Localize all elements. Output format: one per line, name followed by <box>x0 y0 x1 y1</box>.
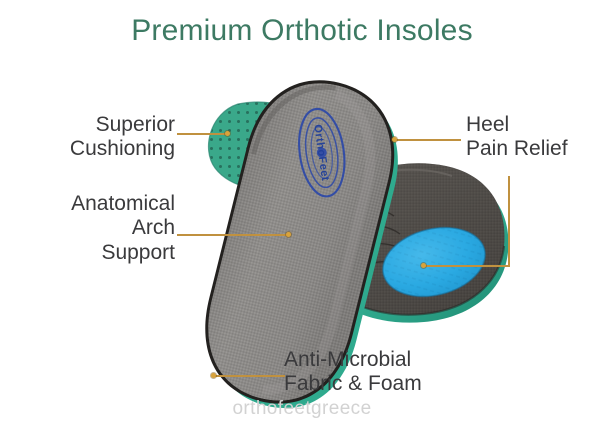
callout-label-heel-pain-relief: Heel Pain Relief <box>466 113 602 162</box>
leader-dot-heel-gel <box>421 263 426 268</box>
leader-dot-anatomical-arch-support <box>286 232 291 237</box>
watermark: orthofeetgreece <box>0 398 604 420</box>
callout-label-anti-microbial: Anti-Microbial Fabric & Foam <box>284 348 584 397</box>
leader-line-heel-gel-vertical <box>508 176 510 266</box>
leader-line-heel-gel-horizontal <box>425 265 510 267</box>
leader-line-anatomical-arch-support <box>177 234 288 236</box>
leader-line-anti-microbial <box>215 375 285 377</box>
infographic-canvas: OrthoFeet Premium Orthotic Insoles Super… <box>0 0 604 427</box>
callout-label-anatomical-arch-support: Anatomical Arch Support <box>8 192 175 265</box>
leader-dot-heel-pain-relief <box>392 137 397 142</box>
leader-dot-superior-cushioning <box>225 131 230 136</box>
page-title: Premium Orthotic Insoles <box>0 14 604 48</box>
leader-dot-anti-microbial <box>211 373 216 378</box>
callout-label-superior-cushioning: Superior Cushioning <box>10 113 175 162</box>
leader-line-heel-pain-relief <box>395 139 461 141</box>
leader-line-superior-cushioning <box>177 133 227 135</box>
